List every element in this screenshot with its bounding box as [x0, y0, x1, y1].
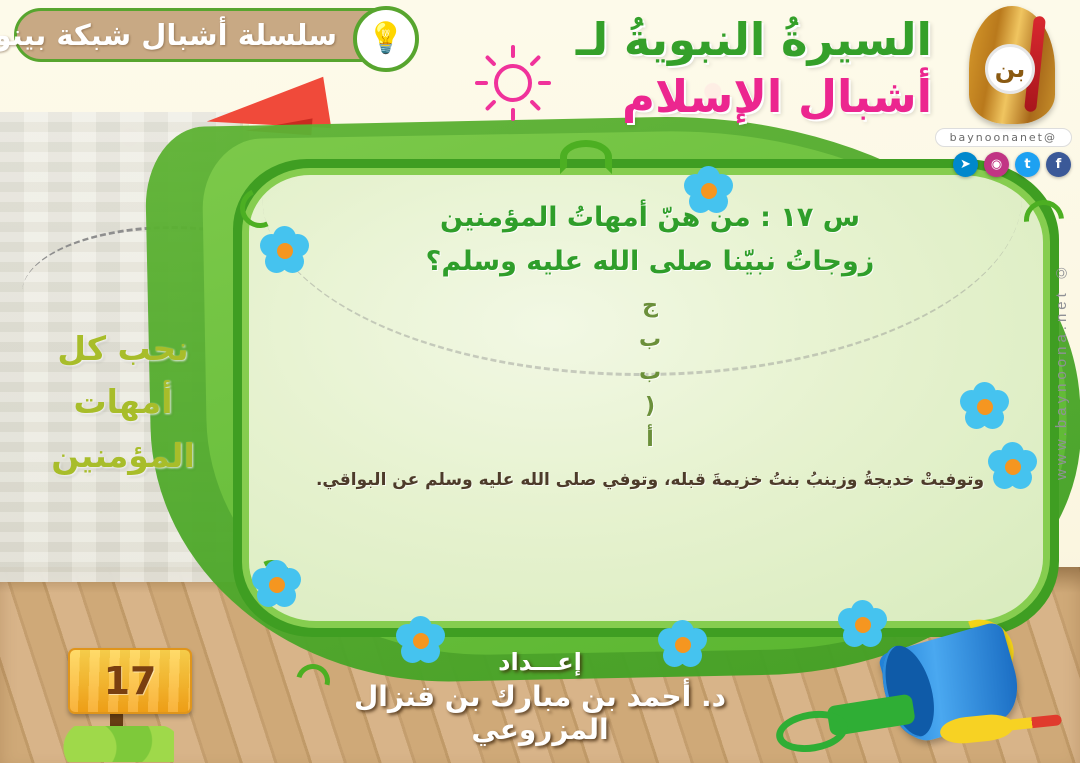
facebook-icon[interactable]: f — [1046, 152, 1071, 177]
closing-note: وتوفيتْ خديجةُ وزينبُ بنتُ خزيمةَ قبله، … — [272, 469, 1028, 493]
bush-decoration — [62, 726, 174, 762]
slogan-block: نحب كل أمهات المؤمنين — [18, 322, 228, 482]
slogan-line: نحب كل — [18, 322, 228, 375]
instagram-icon[interactable]: ◉ — [984, 152, 1009, 177]
slogan-line: المؤمنين — [18, 429, 228, 482]
sign-board: 17 — [68, 648, 192, 714]
slogan-line: أمهات — [18, 375, 228, 428]
baynoona-emblem-icon: بن — [969, 6, 1055, 124]
social-links[interactable]: f t ◉ ➤ — [952, 152, 1072, 177]
sun-doodle-icon — [476, 46, 550, 120]
leaf-curl-decoration — [560, 140, 612, 174]
brand-handle: @baynoonanet — [935, 128, 1072, 147]
emblem-glyph: بن — [985, 44, 1035, 94]
title-line-2: أشبال الإسلام — [372, 70, 932, 124]
page-number: 17 — [104, 659, 157, 703]
series-badge: سلسلة أشبال شبكة بينونة 💡 — [14, 8, 414, 62]
question-line: س ١٧ : من هنّ أمهاتُ المؤمنين — [272, 196, 1028, 240]
author-name: د. أحمد بن مبارك بن قنزال المزروعي — [330, 680, 750, 746]
prepared-by-label: إعـــداد — [330, 648, 750, 676]
answer-line: أ — [272, 423, 1028, 456]
blue-flower-icon — [840, 602, 886, 648]
blue-flower-icon — [254, 562, 300, 608]
watermark-text: © www.baynoona.net — [1053, 260, 1070, 480]
twitter-icon[interactable]: t — [1015, 152, 1040, 177]
question-answer-block: س ١٧ : من هنّ أمهاتُ المؤمنين زوجاتُ نبي… — [272, 196, 1028, 492]
answer-lines: ج ب ب ( أ — [272, 289, 1028, 456]
page-title: السيرةُ النبويةُ لـ أشبال الإسلام — [372, 14, 932, 124]
answer-line: ب — [272, 356, 1028, 389]
question-line: زوجاتُ نبيّنا صلى الله عليه وسلم؟ — [272, 240, 1028, 284]
answer-line: ( — [272, 390, 1028, 423]
infographic-page: سلسلة أشبال شبكة بينونة 💡 السيرةُ النبوي… — [0, 0, 1080, 763]
credits-block: إعـــداد د. أحمد بن مبارك بن قنزال المزر… — [330, 648, 750, 746]
telegram-icon[interactable]: ➤ — [953, 152, 978, 177]
answer-line: ج — [272, 289, 1028, 322]
series-badge-label: سلسلة أشبال شبكة بينونة — [0, 18, 337, 52]
answer-line: ب — [272, 323, 1028, 356]
page-number-signpost: 17 — [52, 648, 192, 760]
title-line-1: السيرةُ النبويةُ لـ — [372, 14, 932, 66]
brand-logo-block: بن @baynoonanet f t ◉ ➤ — [952, 6, 1072, 177]
site-watermark: © www.baynoona.net — [1046, 205, 1076, 535]
